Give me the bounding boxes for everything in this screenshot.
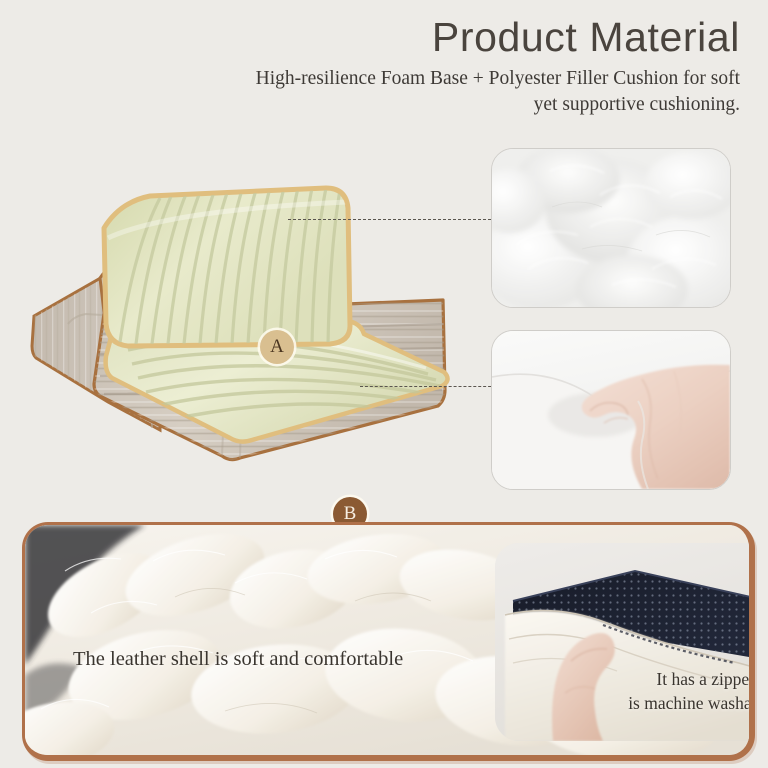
sofa-diagram-svg — [8, 128, 478, 503]
fiber-fill-image — [492, 149, 730, 307]
zipper-caption: It has a zipper & is machine washable — [628, 667, 755, 715]
inset-panel-polyester-fiber[interactable] — [491, 148, 731, 308]
page-title: Product Material — [432, 14, 740, 61]
product-material-infographic: Product Material High-resilience Foam Ba… — [0, 0, 768, 768]
bottom-feature-panel[interactable]: The leather shell is soft and comfortabl… — [22, 522, 755, 761]
subtitle-line-1: High-resilience Foam Base + Polyester Fi… — [256, 68, 740, 89]
fur-caption: The leather shell is soft and comfortabl… — [73, 648, 403, 671]
sofa-illustration: A B — [8, 128, 478, 503]
page-subtitle: High-resilience Foam Base + Polyester Fi… — [120, 66, 740, 118]
subtitle-line-2: yet supportive cushioning. — [534, 94, 740, 115]
leader-line-b — [360, 386, 496, 387]
callout-badge-a-label: A — [270, 336, 284, 358]
callout-badge-a[interactable]: A — [260, 330, 294, 364]
zipper-caption-line-2: is machine washable — [628, 693, 755, 713]
inset-panel-zipper[interactable]: It has a zipper & is machine washable — [495, 543, 755, 741]
sofa-back-cushion-a — [104, 188, 350, 346]
foam-press-image — [492, 331, 730, 489]
leader-line-a — [288, 219, 496, 220]
header: Product Material High-resilience Foam Ba… — [0, 0, 768, 130]
zipper-caption-line-1: It has a zipper & — [656, 669, 755, 689]
inset-panel-foam-press[interactable] — [491, 330, 731, 490]
